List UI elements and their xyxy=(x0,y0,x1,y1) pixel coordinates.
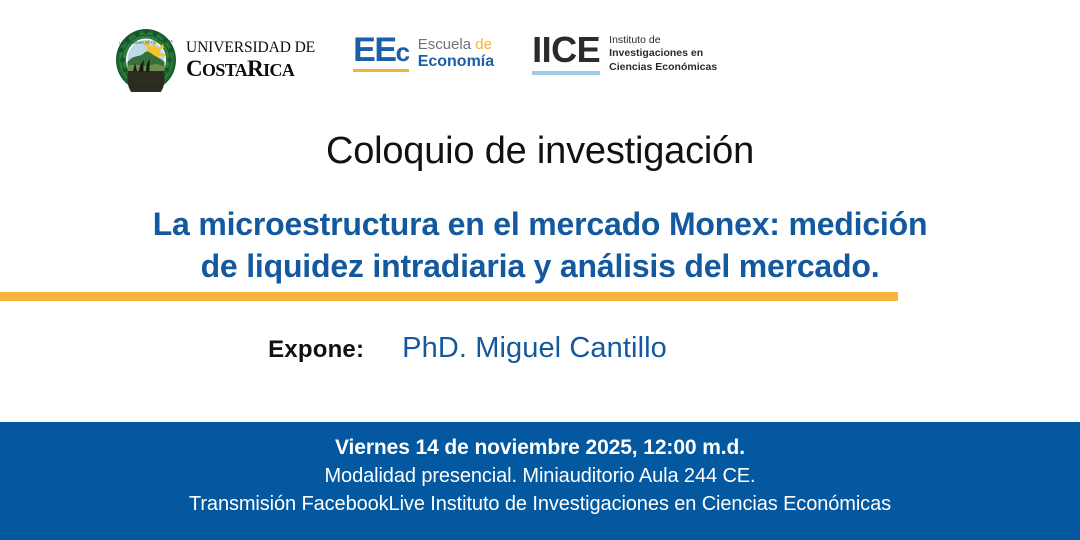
ucr-crest-icon: UNIVERSIDAD DE COSTA RICA LUCEM ASPICIO xyxy=(115,28,177,92)
logo-iice: IICE Instituto de Investigaciones en Cie… xyxy=(532,32,717,75)
iice-line-2: Investigaciones en xyxy=(609,47,717,60)
event-location: Modalidad presencial. Miniauditorio Aula… xyxy=(0,463,1080,491)
eec-wordmark: Escuela de Economía xyxy=(418,34,494,72)
speaker-row: Expone: PhD. Miguel Cantillo xyxy=(0,332,1080,365)
ucr-wordmark: UNIVERSIDAD DE COSTARICA xyxy=(186,40,315,80)
event-datetime: Viernes 14 de noviembre 2025, 12:00 m.d. xyxy=(0,434,1080,463)
event-title-line-2: de liquidez intradiaria y análisis del m… xyxy=(0,245,1080,287)
speaker-name: PhD. Miguel Cantillo xyxy=(402,332,667,365)
speaker-label: Expone: xyxy=(268,336,364,364)
event-title: La microestructura en el mercado Monex: … xyxy=(0,203,1080,287)
eec-escuela-line: Escuela de xyxy=(418,36,494,53)
eec-underline xyxy=(353,69,409,72)
logo-escuela-de-economia: EEc Escuela de Economía xyxy=(353,34,494,72)
logo-universidad-de-costa-rica: UNIVERSIDAD DE COSTA RICA LUCEM ASPICIO … xyxy=(115,28,315,92)
event-kicker: Coloquio de investigación xyxy=(0,130,1080,173)
poster-canvas: UNIVERSIDAD DE COSTA RICA LUCEM ASPICIO … xyxy=(0,0,1080,540)
event-stream-info: Transmisión FacebookLive Instituto de In… xyxy=(0,491,1080,519)
iice-letters: IICE xyxy=(532,32,600,68)
yellow-divider xyxy=(0,292,898,301)
iice-wordmark: Instituto de Investigaciones en Ciencias… xyxy=(609,32,717,74)
eec-mark: EEc xyxy=(353,34,409,72)
eec-economia-line: Economía xyxy=(418,53,494,71)
logo-bar: UNIVERSIDAD DE COSTA RICA LUCEM ASPICIO … xyxy=(115,28,717,92)
iice-mark: IICE xyxy=(532,32,600,75)
iice-underline xyxy=(532,71,600,75)
event-details-banner: Viernes 14 de noviembre 2025, 12:00 m.d.… xyxy=(0,422,1080,540)
ucr-line-1: UNIVERSIDAD DE xyxy=(186,40,315,56)
svg-text:LUCEM ASPICIO: LUCEM ASPICIO xyxy=(134,79,159,83)
eec-letters: EEc xyxy=(353,34,409,66)
event-title-line-1: La microestructura en el mercado Monex: … xyxy=(0,203,1080,245)
iice-line-1: Instituto de xyxy=(609,34,717,47)
ucr-line-2: COSTARICA xyxy=(186,57,315,80)
iice-line-3: Ciencias Económicas xyxy=(609,61,717,74)
